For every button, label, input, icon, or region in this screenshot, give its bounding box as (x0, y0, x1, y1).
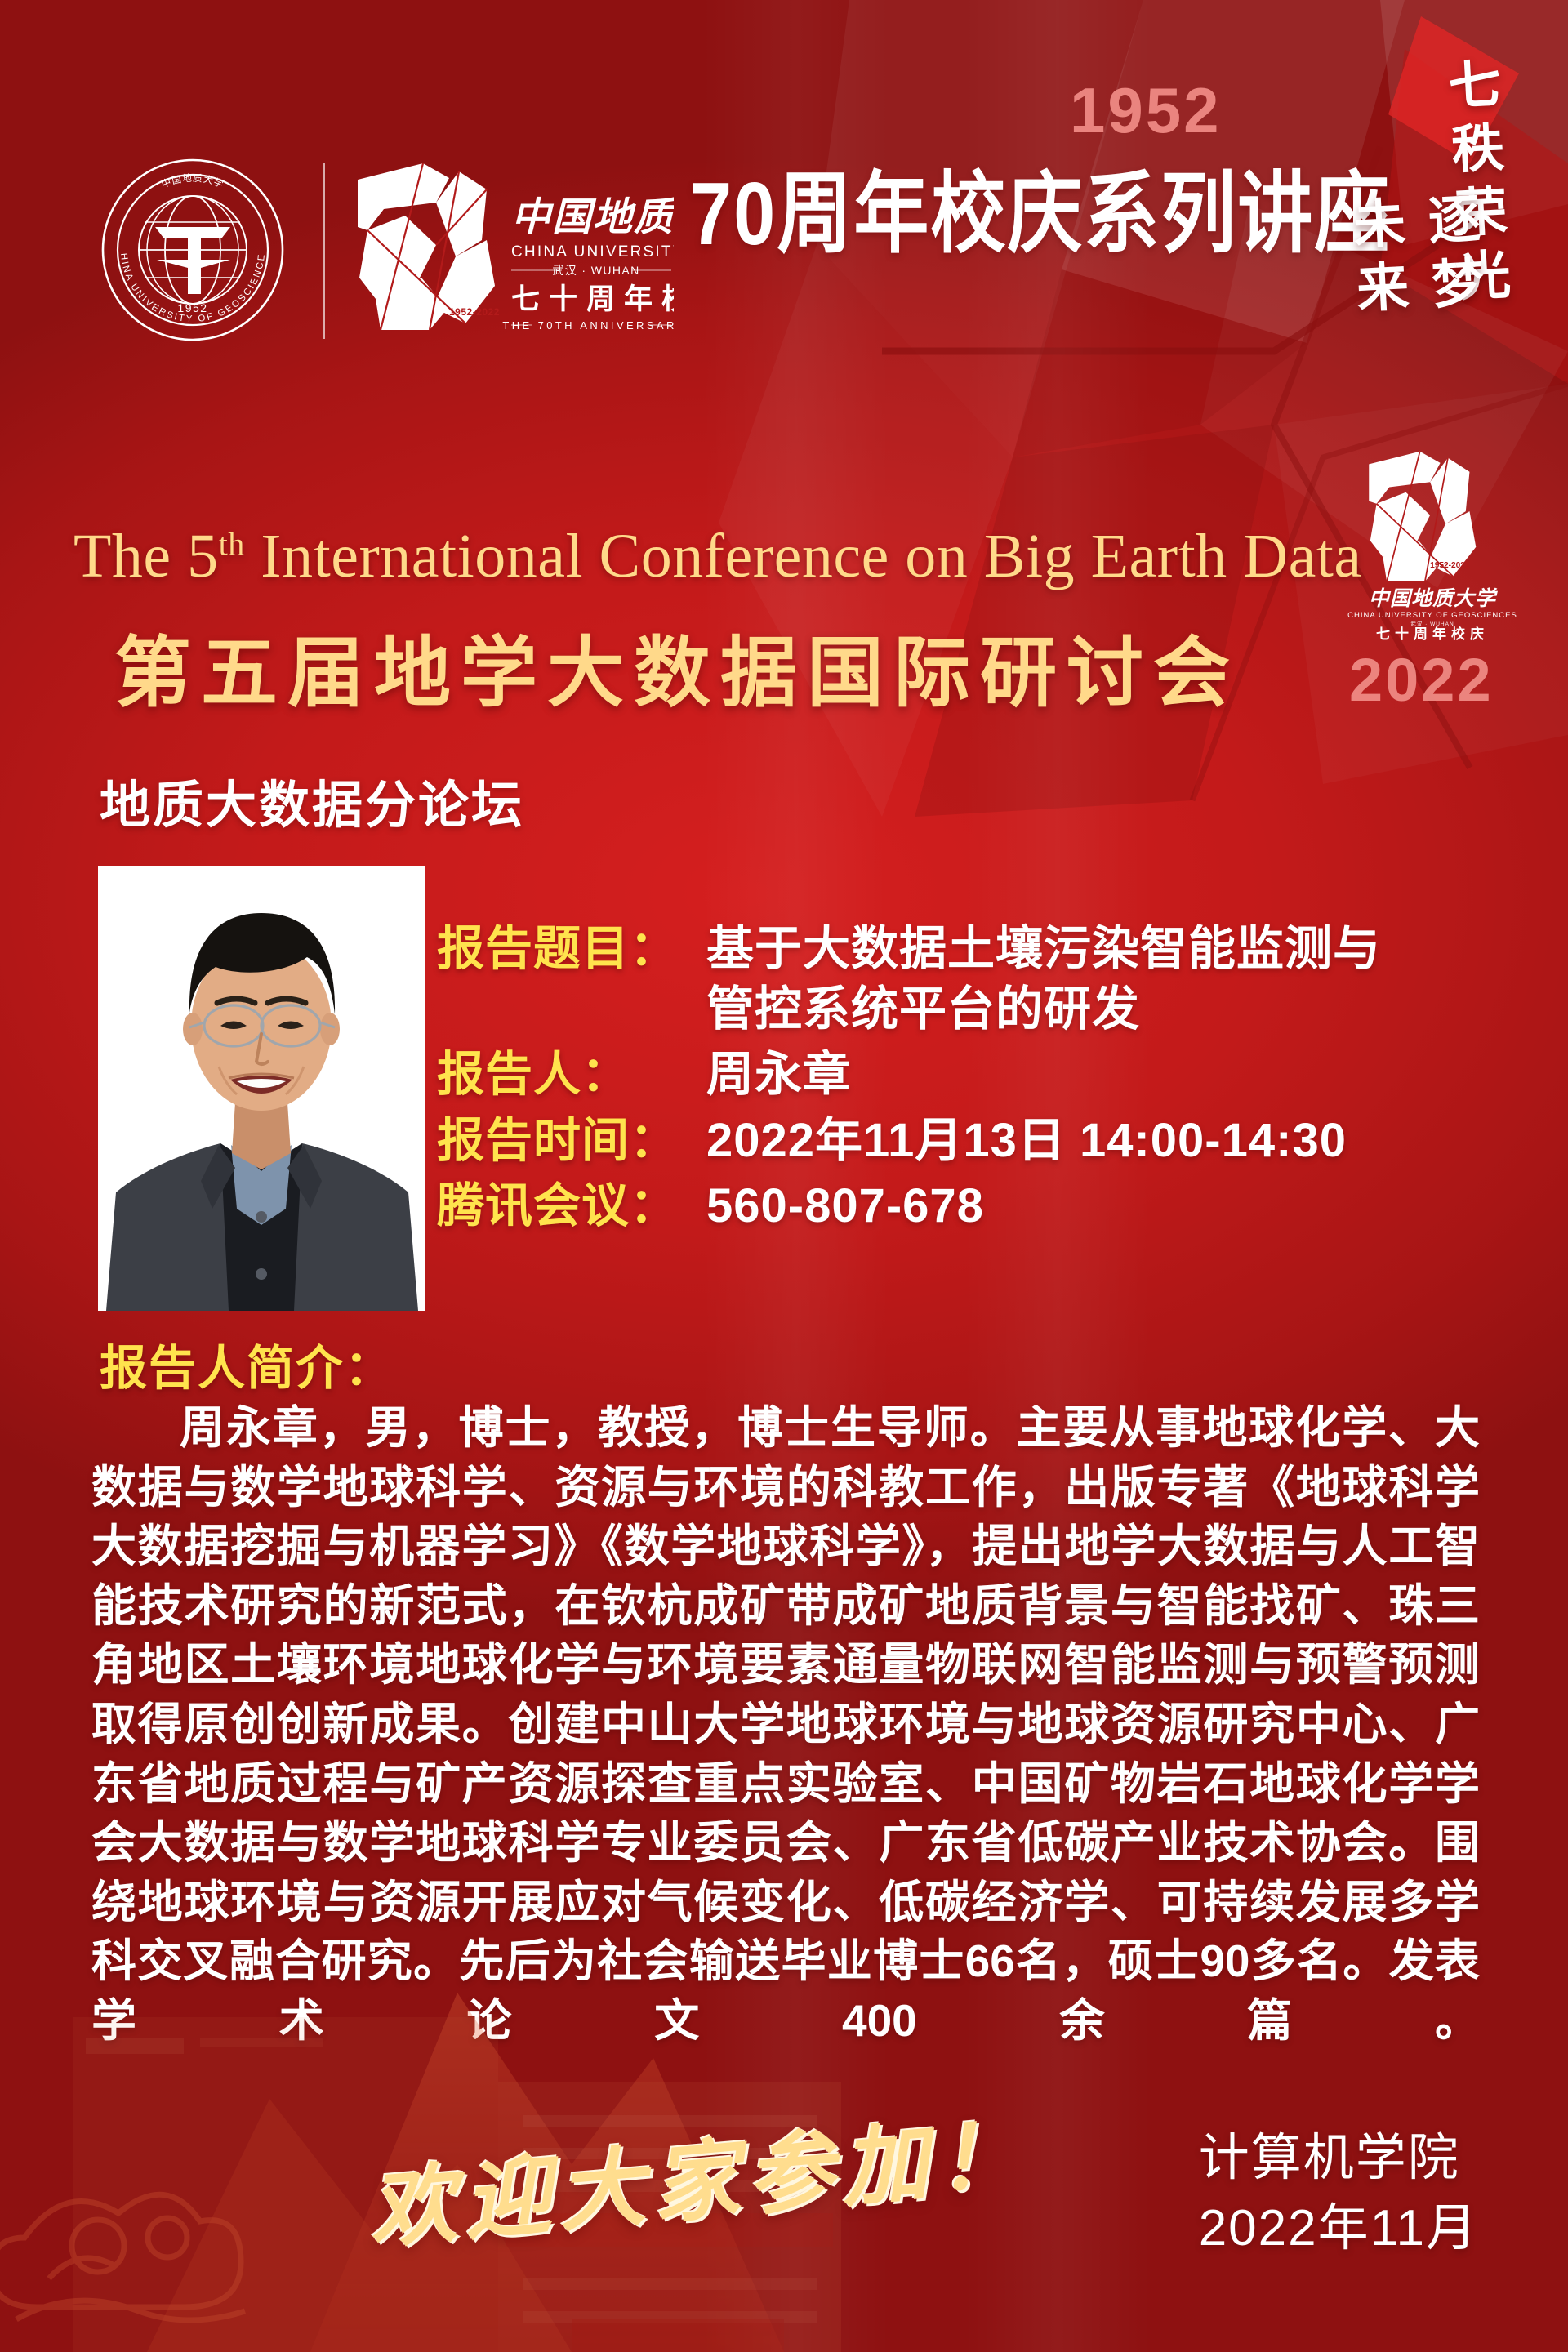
svg-text:1952-2022: 1952-2022 (1430, 561, 1470, 570)
talk-row-time: 报告时间： 2022年11月13日 14:00-14:30 (437, 1111, 1548, 1171)
talk-title-line1: 基于大数据土壤污染智能监测与 (706, 919, 1548, 979)
talk-time-label: 报告时间： (437, 1111, 706, 1171)
poster-signature: 计算机学院 2022年11月 (1199, 2123, 1478, 2263)
subforum-title: 地质大数据分论坛 (100, 764, 524, 837)
year-current-label: 2022 (1349, 645, 1494, 715)
conference-title-cn: 第五届地学大数据国际研讨会 (114, 611, 1240, 722)
talk-title-value: 基于大数据土壤污染智能监测与 管控系统平台的研发 (706, 919, 1548, 1040)
talk-title-label: 报告题目： (437, 919, 706, 979)
svg-text:1952-2022: 1952-2022 (449, 306, 500, 318)
lecture-series-title: 70周年校庆系列讲座 (690, 170, 1391, 259)
svg-text:CHINA UNIVERSITY OF GEOSCIENCE: CHINA UNIVERSITY OF GEOSCIENCES (1347, 611, 1517, 620)
conference-title-en: The 5th International Conference on Big … (73, 521, 1362, 592)
conference-title-ordinal: th (219, 526, 245, 563)
welcome-text: 欢迎大家参加！ (363, 2082, 1035, 2265)
svg-text:中国地质大学: 中国地质大学 (1369, 587, 1498, 610)
university-emblem-icon: 中国地质大学 CHINA UNIVERSITY OF GEOSCIENCES 1… (100, 157, 286, 343)
talk-meeting-id: 560-807-678 (706, 1176, 1548, 1236)
conference-title-en-pre: The 5 (73, 522, 219, 590)
talk-speaker-value: 周永章 (706, 1045, 1548, 1105)
conference-title-en-post: International Conference on Big Earth Da… (245, 522, 1362, 590)
organizer-name: 计算机学院 (1199, 2123, 1478, 2194)
talk-speaker-label: 报告人： (437, 1045, 706, 1105)
svg-text:1952: 1952 (177, 301, 207, 314)
anniversary-badge-icon: 1952-2022 中国地质大学 CHINA UNIVERSITY OF GEO… (1346, 445, 1519, 641)
svg-text:武汉 · WUHAN: 武汉 · WUHAN (552, 264, 639, 277)
poster-header: 中国地质大学 CHINA UNIVERSITY OF GEOSCIENCES 1… (0, 0, 1568, 343)
poster-date: 2022年11月 (1199, 2194, 1478, 2264)
svg-text:中国地质大学: 中国地质大学 (511, 196, 674, 239)
talk-row-meeting: 腾讯会议： 560-807-678 (437, 1176, 1548, 1236)
talk-title-line2: 管控系统平台的研发 (706, 979, 1548, 1040)
talk-row-title: 报告题目： 基于大数据土壤污染智能监测与 管控系统平台的研发 (437, 919, 1548, 1040)
poster-root: 中国地质大学 CHINA UNIVERSITY OF GEOSCIENCES 1… (0, 0, 1568, 2352)
svg-text:七十周年校庆: 七十周年校庆 (1376, 626, 1489, 641)
header-divider (323, 163, 325, 339)
calligraphy-left: 逐梦未来 (1335, 190, 1493, 346)
svg-text:CHINA UNIVERSITY OF GEOSCIENCE: CHINA UNIVERSITY OF GEOSCIENCES (511, 243, 674, 261)
talk-row-speaker: 报告人： 周永章 (437, 1045, 1548, 1105)
bio-text: 周永章，男，博士，教授，博士生导师。主要从事地球化学、大数据与数学地球科学、资源… (91, 1398, 1480, 2051)
talk-time-value: 2022年11月13日 14:00-14:30 (706, 1111, 1548, 1171)
svg-text:七十周年校庆: 七十周年校庆 (511, 283, 674, 315)
talk-meeting-label: 腾讯会议： (437, 1176, 706, 1236)
year-founded-label: 1952 (1070, 73, 1222, 148)
anniversary-lockup-icon: 1952-2022 中国地质大学 CHINA UNIVERSITY OF GEO… (351, 155, 674, 347)
talk-info-block: 报告题目： 基于大数据土壤污染智能监测与 管控系统平台的研发 报告人： 周永章 … (437, 919, 1548, 1241)
speaker-photo (98, 866, 425, 1311)
svg-text:THE 70TH ANNIVERSARY: THE 70TH ANNIVERSARY (502, 319, 674, 332)
bio-heading: 报告人简介： (100, 1330, 394, 1398)
